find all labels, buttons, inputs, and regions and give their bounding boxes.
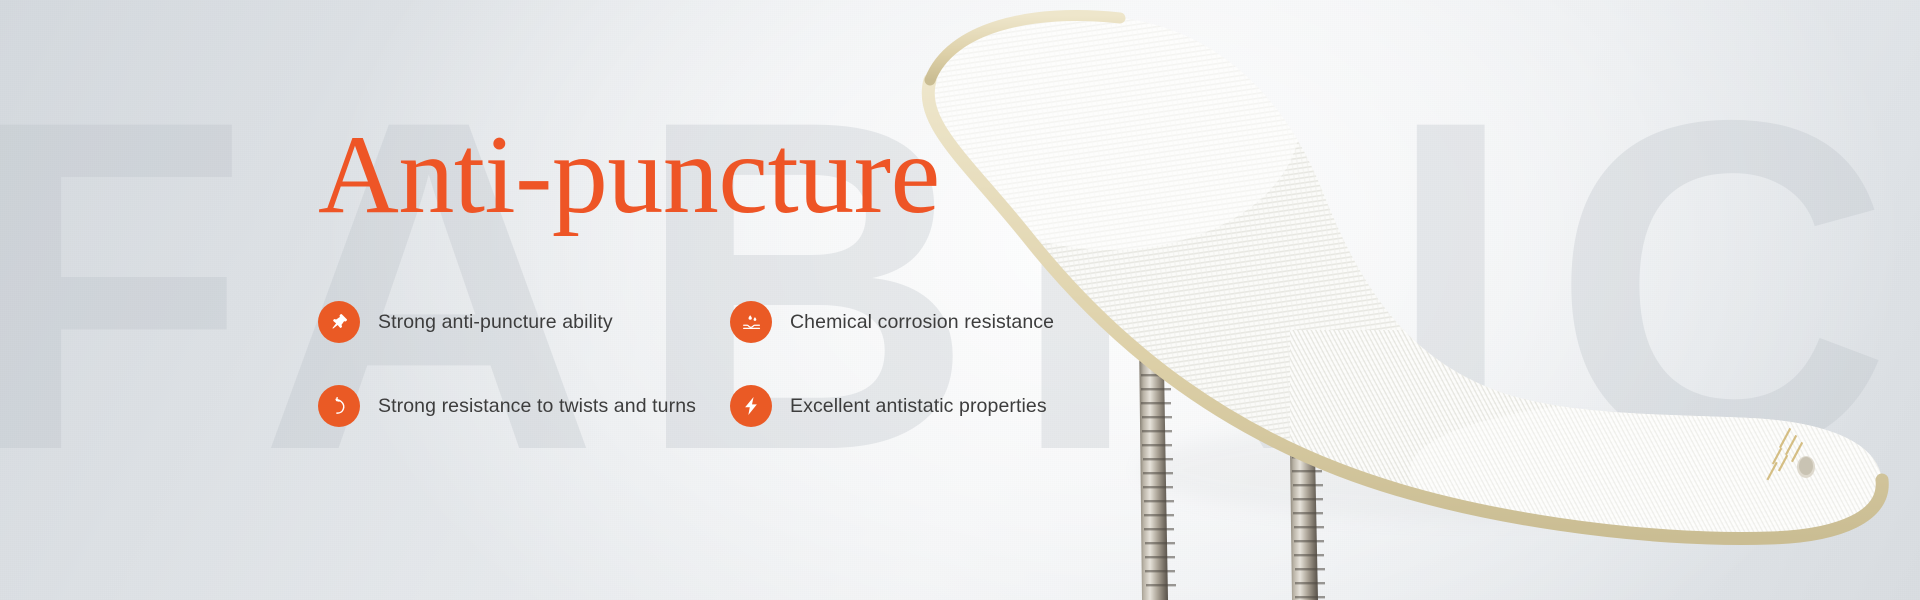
feature-item-anti-puncture: Strong anti-puncture ability (318, 280, 730, 364)
page-title: Anti-puncture (318, 118, 1148, 232)
feature-item-chemical-resistance: Chemical corrosion resistance (730, 280, 1148, 364)
feature-item-twist-resistance: Strong resistance to twists and turns (318, 364, 730, 448)
metal-nail-right (1288, 300, 1325, 600)
feature-list: Strong anti-puncture ability Chemical co… (318, 280, 1148, 448)
lightning-bolt-icon (730, 385, 772, 427)
pushpin-icon (318, 301, 360, 343)
insole-gold-marking (1766, 428, 1803, 481)
feature-label: Strong anti-puncture ability (378, 311, 613, 334)
feature-label: Strong resistance to twists and turns (378, 395, 696, 418)
feature-label: Excellent antistatic properties (790, 395, 1047, 418)
feature-item-antistatic: Excellent antistatic properties (730, 364, 1148, 448)
banner-content: Anti-puncture Strong anti-puncture abili… (318, 118, 1148, 448)
feature-label: Chemical corrosion resistance (790, 311, 1054, 334)
chemical-droplet-icon (730, 301, 772, 343)
rotation-arrow-icon (318, 385, 360, 427)
anti-puncture-banner: FABRIC (0, 0, 1920, 600)
